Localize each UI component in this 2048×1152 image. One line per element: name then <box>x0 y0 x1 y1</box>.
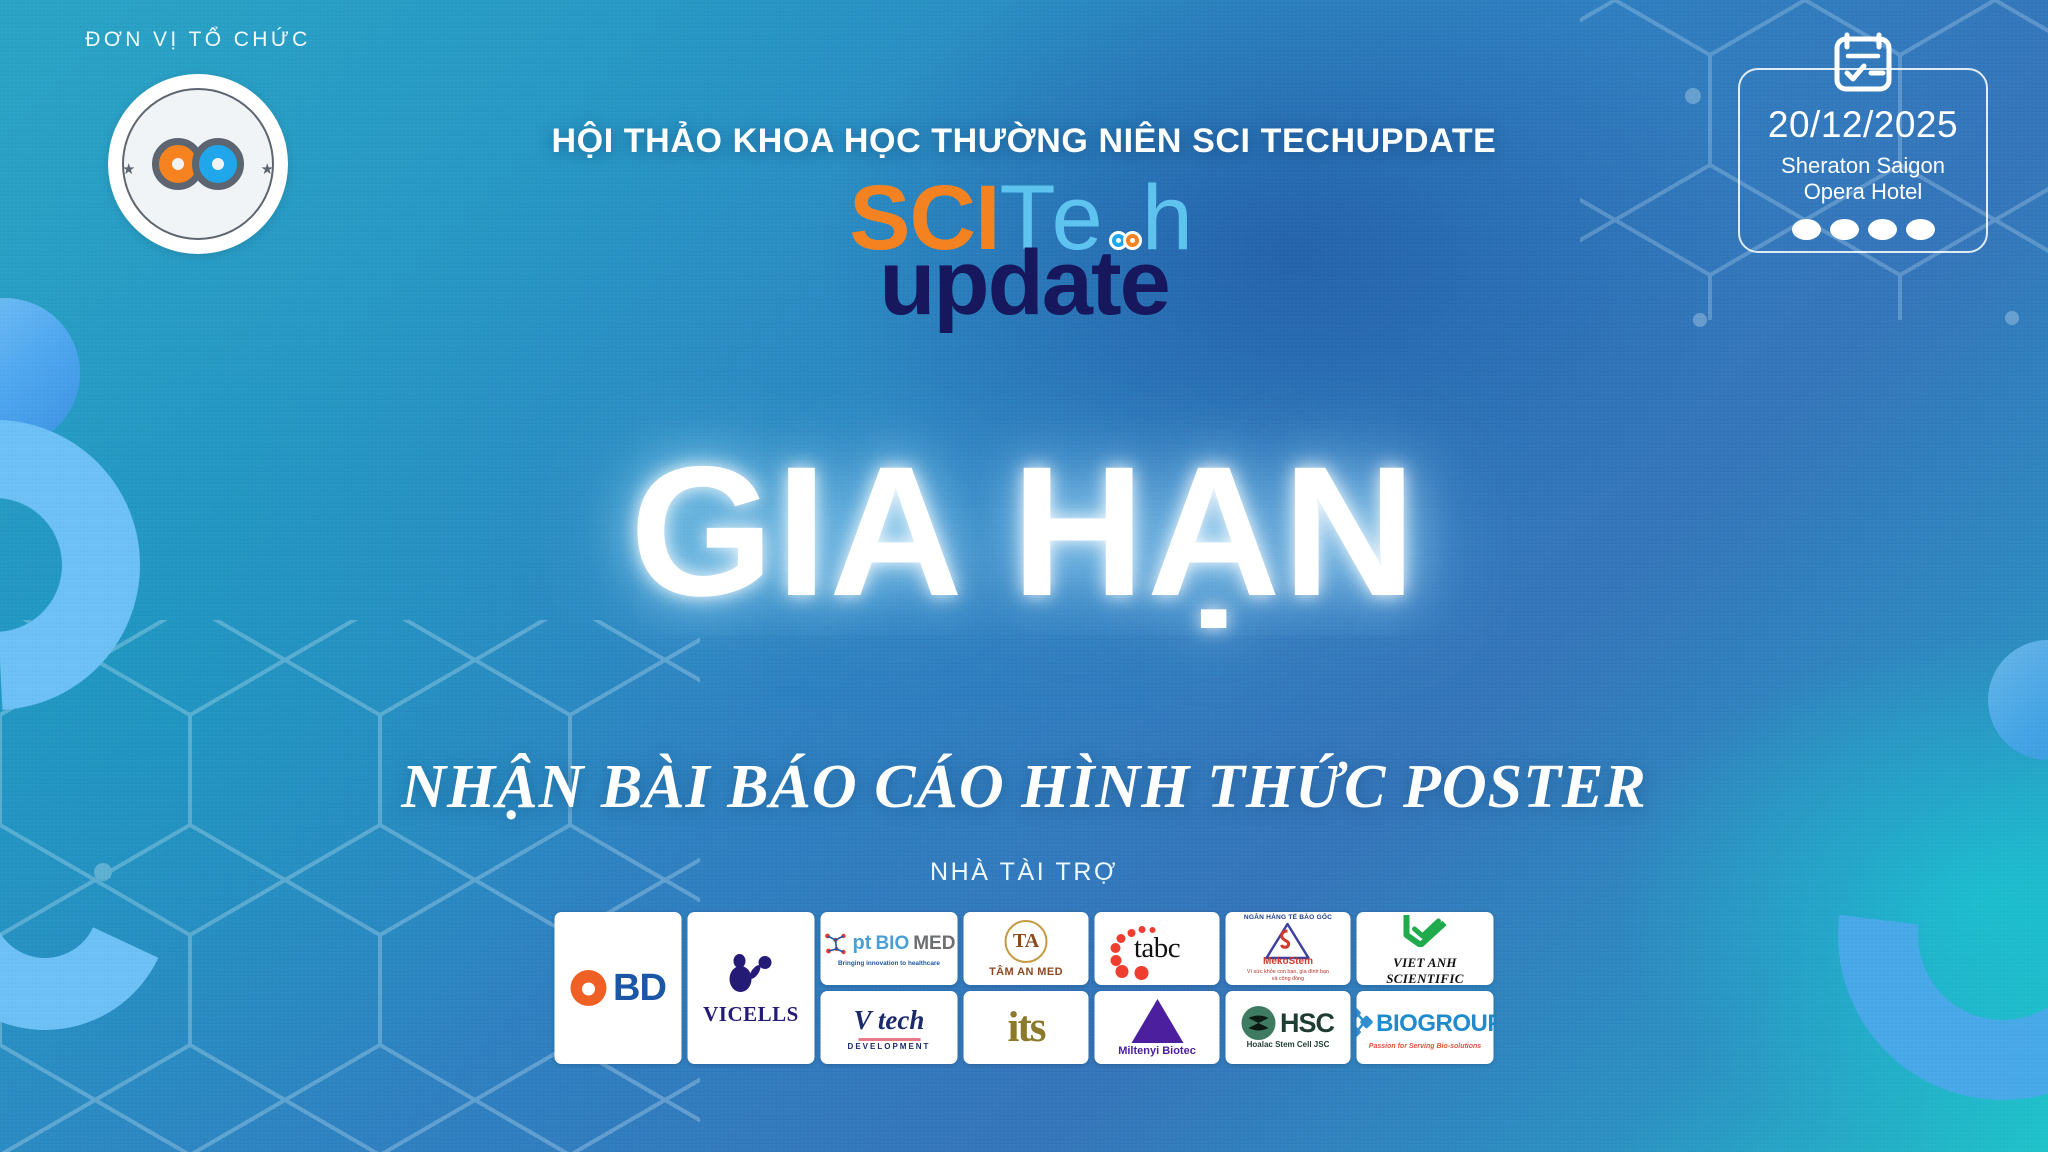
mekostem-triangle-icon <box>1264 921 1312 961</box>
mekostem-sub1: Vì sức khỏe con bạn, gia đình bạn <box>1247 969 1329 975</box>
subheadline: NHẬN BÀI BÁO CÁO HÌNH THỨC POSTER <box>0 752 2048 823</box>
sponsor-col-7: VIET ANH SCIENTIFIC BIOGROUP Passion for… <box>1357 912 1494 1064</box>
tabc-mark-icon: tabc <box>1095 912 1220 985</box>
sponsor-col-3: pt BIOMED Bringing innovation to healthc… <box>821 912 958 1064</box>
sponsor-logo-vicells: VICELLS <box>688 912 815 1064</box>
sponsor-logo-its: its <box>964 991 1089 1064</box>
sponsor-logo-ptbiomed: pt BIOMED Bringing innovation to healthc… <box>821 912 958 985</box>
poster-canvas: ĐƠN VỊ TỔ CHỨC VIỆN TẾ BÀO GỐC TRƯỜNG ĐẠ… <box>0 0 2048 1152</box>
event-date-card: 20/12/2025 Sheraton Saigon Opera Hotel <box>1738 68 1988 253</box>
its-wordmark: its <box>1008 1003 1045 1052</box>
mekostem-wordmark: MekoStem <box>1244 956 1332 967</box>
sponsor-logo-grid: BD VICELLS <box>555 912 1494 1064</box>
biogroup-wordmark: BIOGROUP <box>1376 1012 1493 1036</box>
sponsor-logo-biogroup: BIOGROUP Passion for Serving Bio-solutio… <box>1357 991 1494 1064</box>
vietanh-check-icon <box>1402 912 1448 947</box>
hsc-wordmark: HSC <box>1280 1010 1334 1037</box>
ptbiomed-pt-text: pt <box>853 932 872 955</box>
vicells-mark-icon <box>724 950 778 998</box>
venue-line-2: Opera Hotel <box>1804 179 1923 204</box>
ptbiomed-molecule-icon <box>823 931 849 957</box>
sponsor-logo-vietanh: VIET ANH SCIENTIFIC <box>1357 912 1494 985</box>
biogroup-mark-icon <box>1357 1005 1374 1043</box>
sponsor-col-5: tabc Miltenyi Biotec <box>1095 912 1220 1064</box>
sponsor-logo-vitech: V tech DEVELOPMENT <box>821 991 958 1064</box>
ptbiomed-med-text: MED <box>913 933 955 955</box>
sponsor-logo-tabc: tabc <box>1095 912 1220 985</box>
calendar-checklist-icon <box>1824 26 1902 104</box>
sponsor-logo-tamanmed: TA TÂM AN MED <box>964 912 1089 985</box>
logo-update-text: update <box>0 248 2048 320</box>
hsc-mark-icon <box>1242 1006 1276 1040</box>
mekostem-top-text: NGÂN HÀNG TẾ BÀO GỐC <box>1244 914 1332 921</box>
vicells-wordmark: VICELLS <box>703 1002 799 1027</box>
miltenyi-wordmark: Miltenyi Biotec <box>1118 1045 1196 1057</box>
sponsor-logo-hsc: HSC Hoalac Stem Cell JSC <box>1226 991 1351 1064</box>
venue-line-1: Sheraton Saigon <box>1781 153 1945 178</box>
sponsor-col-4: TA TÂM AN MED its <box>964 912 1089 1064</box>
event-venue: Sheraton Saigon Opera Hotel <box>1781 153 1945 205</box>
hsc-subtext: Hoalac Stem Cell JSC <box>1242 1040 1334 1049</box>
mekostem-sub2: và cộng đồng <box>1272 976 1304 982</box>
sponsors-label: NHÀ TÀI TRỢ <box>0 858 2048 887</box>
mekostem-subtext: Vì sức khỏe con bạn, gia đình bạn và cộn… <box>1244 969 1332 983</box>
tabc-wordmark: tabc <box>1134 932 1180 965</box>
sponsor-col-2: VICELLS <box>688 912 815 1064</box>
decor-dots-row <box>1792 219 1935 240</box>
logo-cell-icon <box>1109 231 1142 250</box>
ptbiomed-bio-text: BIO <box>875 933 909 955</box>
headline-gia-han: GIA HẠN <box>0 440 2048 625</box>
sponsor-col-1: BD <box>555 912 682 1064</box>
biogroup-tagline: Passion for Serving Bio-solutions <box>1357 1043 1494 1050</box>
bd-mark-icon <box>570 970 606 1006</box>
bd-wordmark: BD <box>613 967 666 1010</box>
vietanh-wordmark: VIET ANH SCIENTIFIC <box>1357 955 1494 986</box>
sponsor-logo-bd: BD <box>555 912 682 1064</box>
vitech-wordmark: V tech <box>848 1005 931 1036</box>
vitech-underline <box>858 1038 920 1041</box>
vitech-subtext: DEVELOPMENT <box>848 1042 931 1051</box>
sponsor-logo-miltenyi: Miltenyi Biotec <box>1095 991 1220 1064</box>
miltenyi-mark-icon <box>1131 999 1183 1043</box>
tamanmed-wordmark: TÂM AN MED <box>989 966 1063 978</box>
sponsor-col-6: NGÂN HÀNG TẾ BÀO GỐC MekoStem Vì sức khỏ… <box>1226 912 1351 1064</box>
event-date: 20/12/2025 <box>1768 106 1958 143</box>
ptbiomed-tagline: Bringing innovation to healthcare <box>823 960 956 967</box>
tamanmed-mark-icon: TA <box>1005 920 1048 963</box>
sponsor-logo-mekostem: NGÂN HÀNG TẾ BÀO GỐC MekoStem Vì sức khỏ… <box>1226 912 1351 985</box>
organizer-label: ĐƠN VỊ TỔ CHỨC <box>48 28 348 52</box>
